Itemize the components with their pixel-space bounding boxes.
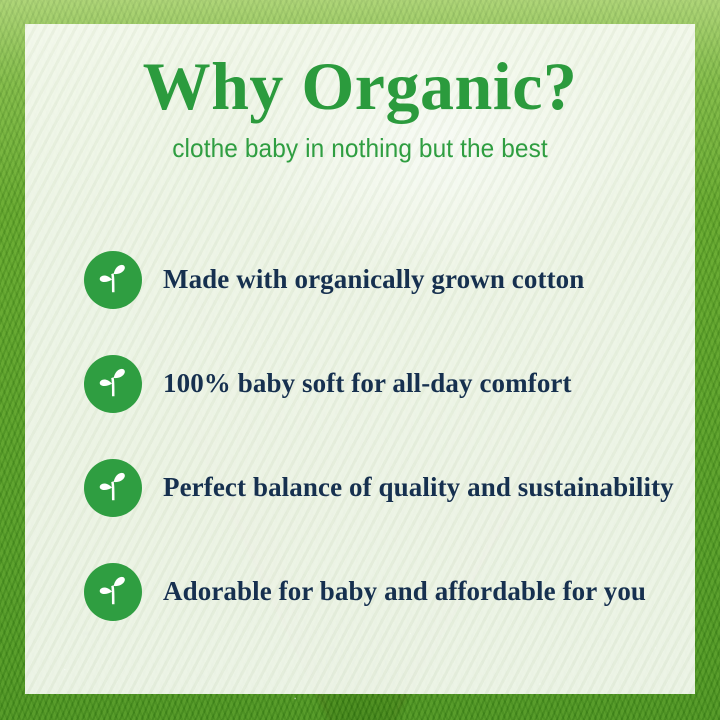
sprout-icon xyxy=(84,459,142,517)
sprout-icon xyxy=(84,251,142,309)
content-panel: Why Organic? clothe baby in nothing but … xyxy=(25,24,695,694)
poster-header: Why Organic? clothe baby in nothing but … xyxy=(25,24,695,163)
list-item-label: Made with organically grown cotton xyxy=(142,264,695,295)
why-organic-poster: Why Organic? clothe baby in nothing but … xyxy=(0,0,720,720)
sprout-icon xyxy=(84,355,142,413)
sprout-icon xyxy=(84,563,142,621)
list-item: Made with organically grown cotton xyxy=(25,228,695,332)
list-item: 100% baby soft for all-day comfort xyxy=(25,332,695,436)
page-title: Why Organic? xyxy=(25,24,695,120)
list-item: Adorable for baby and affordable for you xyxy=(25,540,695,644)
list-item-label: 100% baby soft for all-day comfort xyxy=(142,368,695,399)
benefits-list: Made with organically grown cotton 100% … xyxy=(25,228,695,644)
page-subtitle: clothe baby in nothing but the best xyxy=(45,120,675,163)
list-item-label: Perfect balance of quality and sustainab… xyxy=(142,472,695,503)
list-item: Perfect balance of quality and sustainab… xyxy=(25,436,695,540)
list-item-label: Adorable for baby and affordable for you xyxy=(142,576,695,607)
